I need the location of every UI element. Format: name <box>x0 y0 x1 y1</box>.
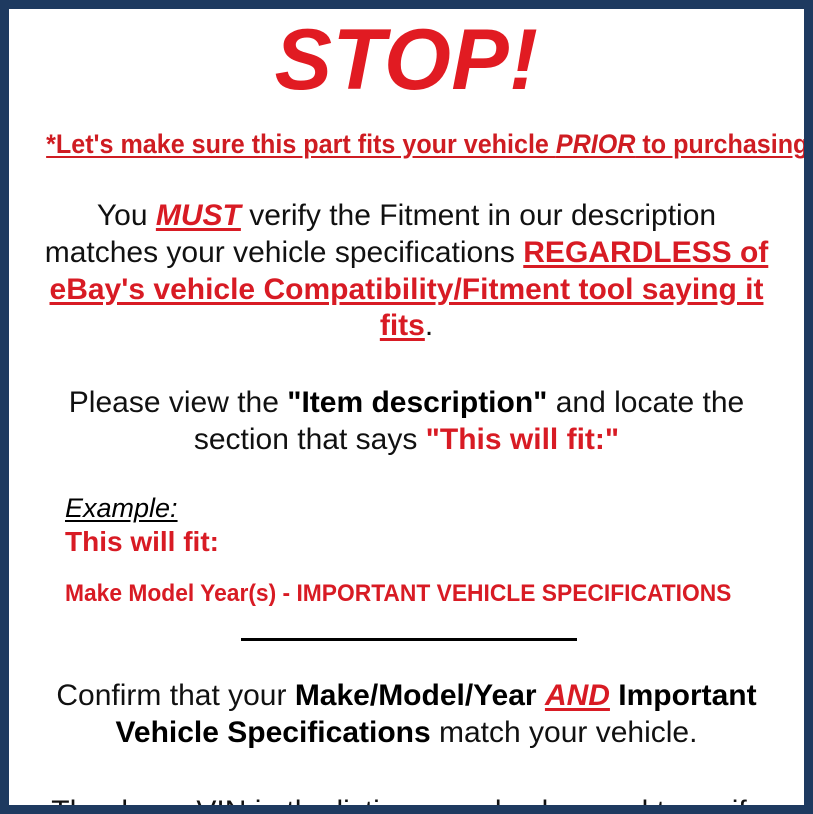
example-label: Example: <box>65 493 178 524</box>
example-spec-line: Make Model Year(s) - IMPORTANT VEHICLE S… <box>65 580 758 608</box>
this-will-fit-emphasis: "This will fit:" <box>426 423 619 456</box>
paragraph-must-verify: You MUST verify the Fitment in our descr… <box>19 198 794 346</box>
confirm-text-part2 <box>537 679 545 712</box>
make-model-year-emphasis: Make/Model/Year <box>295 679 537 712</box>
fitment-notice-card: STOP! *Let's make sure this part fits yo… <box>0 0 813 814</box>
subtitle-emphasis-prior: PRIOR <box>556 129 636 159</box>
subtitle-banner: *Let's make sure this part fits your veh… <box>46 129 767 160</box>
paragraph-confirm-match: Confirm that your Make/Model/Year AND Im… <box>19 678 794 752</box>
notice-content: STOP! *Let's make sure this part fits yo… <box>9 9 804 805</box>
confirm-text-part4: match your vehicle. <box>431 716 698 749</box>
must-emphasis: MUST <box>156 199 241 232</box>
subtitle-lead-text: *Let's make sure this part fits your veh… <box>46 129 556 159</box>
paragraph-view-description: Please view the "Item description" and l… <box>19 385 794 459</box>
must-text-part1: You <box>97 199 156 232</box>
and-emphasis: AND <box>545 679 610 712</box>
confirm-text-part1: Confirm that your <box>56 679 294 712</box>
view-text-part1: Please view the <box>69 386 287 419</box>
item-description-emphasis: "Item description" <box>287 386 547 419</box>
section-divider <box>241 638 577 641</box>
page-title: STOP! <box>19 17 794 105</box>
divider-wrap <box>19 638 794 648</box>
must-text-part3: . <box>425 309 433 342</box>
example-block: Example: This will fit: Make Model Year(… <box>19 493 794 608</box>
subtitle-tail-text: to purchasing* <box>635 129 813 159</box>
example-this-will-fit: This will fit: <box>65 526 794 558</box>
paragraph-donor-vin: The donor VIN in the listing can also be… <box>19 794 794 814</box>
